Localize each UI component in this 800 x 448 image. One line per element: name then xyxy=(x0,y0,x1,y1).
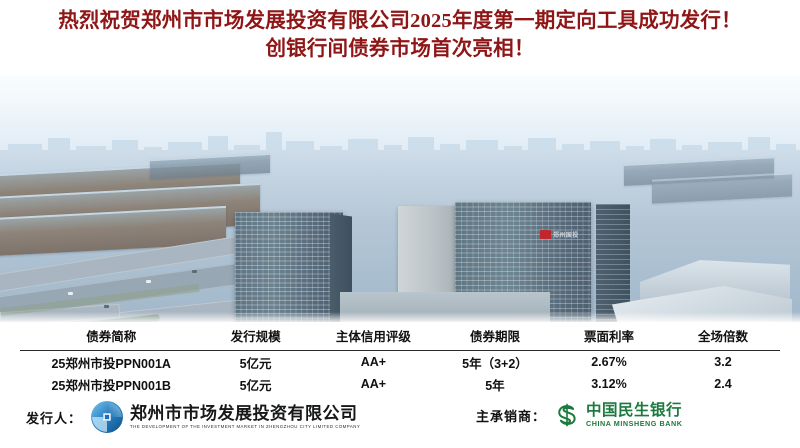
cell-subscription-multiple: 2.4 xyxy=(666,373,780,395)
cell-issue-size: 5亿元 xyxy=(202,351,308,374)
vehicle xyxy=(192,270,197,273)
headline-line-1: 热烈祝贺郑州市市场发展投资有限公司2025年度第一期定向工具成功发行！ xyxy=(0,0,800,34)
issuer-label: 发行人： xyxy=(26,408,82,427)
issuer-group: 发行人： xyxy=(26,400,358,434)
cell-subscription-multiple: 3.2 xyxy=(666,351,780,374)
cell-bond-term: 5年（3+2） xyxy=(438,351,552,374)
column-header-coupon-rate: 票面利率 xyxy=(552,322,666,351)
issuer-mark-icon xyxy=(90,400,124,434)
issuer-logo: 郑州市市场发展投资有限公司 THE DEVELOPMENT OF THE INV… xyxy=(90,400,358,434)
cell-issue-size: 5亿元 xyxy=(202,373,308,395)
hq-tower-left xyxy=(235,212,343,322)
bond-summary-band: 债券简称 发行规模 主体信用评级 债券期限 票面利率 全场倍数 25郑州市投PP… xyxy=(0,322,800,394)
building-signage: 郑州国投 xyxy=(540,230,579,239)
column-header-credit-rating: 主体信用评级 xyxy=(309,322,438,351)
cell-bond-name: 25郑州市投PPN001A xyxy=(20,351,202,374)
cell-bond-name: 25郑州市投PPN001B xyxy=(20,373,202,395)
aerial-building-photo: 郑州国投 xyxy=(0,64,800,322)
announcement-poster: 郑州国投 热烈祝贺郑州市市场发展投资有限公司2025年度第一期定向工具成功发行！… xyxy=(0,0,800,448)
column-header-bond-term: 债券期限 xyxy=(438,322,552,351)
minsheng-name-cn: 中国民生银行 xyxy=(586,403,682,419)
table-row: 25郑州市投PPN001A 5亿元 AA+ 5年（3+2） 2.67% 3.2 xyxy=(20,351,780,374)
vehicle xyxy=(68,292,73,295)
zhengzhou-guotou-mark-icon xyxy=(540,230,551,239)
issuer-name-en: THE DEVELOPMENT OF THE INVESTMENT MARKET… xyxy=(130,425,362,429)
cell-coupon-rate: 3.12% xyxy=(552,373,666,395)
headline-banner: 热烈祝贺郑州市市场发展投资有限公司2025年度第一期定向工具成功发行！ 创银行间… xyxy=(0,0,800,76)
bond-details-table: 债券简称 发行规模 主体信用评级 债券期限 票面利率 全场倍数 25郑州市投PP… xyxy=(20,322,780,395)
underwriter-group: 主承销商： 中国民生银行 CHINA MINSHENG BANK xyxy=(476,402,682,428)
cell-coupon-rate: 2.67% xyxy=(552,351,666,374)
issuer-name-cn: 郑州市市场发展投资有限公司 xyxy=(130,405,358,422)
table-row: 25郑州市投PPN001B 5亿元 AA+ 5年 3.12% 2.4 xyxy=(20,373,780,395)
column-header-bond-name: 债券简称 xyxy=(20,322,202,351)
cell-bond-term: 5年 xyxy=(438,373,552,395)
vehicle xyxy=(104,305,109,308)
column-header-subscription-multiple: 全场倍数 xyxy=(666,322,780,351)
building-signage-label: 郑州国投 xyxy=(553,230,579,239)
minsheng-name-en: CHINA MINSHENG BANK xyxy=(586,420,682,427)
photo-bottom-fade xyxy=(0,312,800,322)
table-header-row: 债券简称 发行规模 主体信用评级 债券期限 票面利率 全场倍数 xyxy=(20,322,780,351)
minsheng-mark-icon xyxy=(554,402,580,428)
column-header-issue-size: 发行规模 xyxy=(202,322,308,351)
cell-credit-rating: AA+ xyxy=(309,373,438,395)
footer-band: 发行人： xyxy=(0,394,800,448)
minsheng-bank-logo: 中国民生银行 CHINA MINSHENG BANK xyxy=(554,402,682,428)
headline-line-2: 创银行间债券市场首次亮相！ xyxy=(0,34,800,62)
cell-credit-rating: AA+ xyxy=(309,351,438,374)
vehicle xyxy=(146,280,151,283)
underwriter-label: 主承销商： xyxy=(476,406,546,425)
